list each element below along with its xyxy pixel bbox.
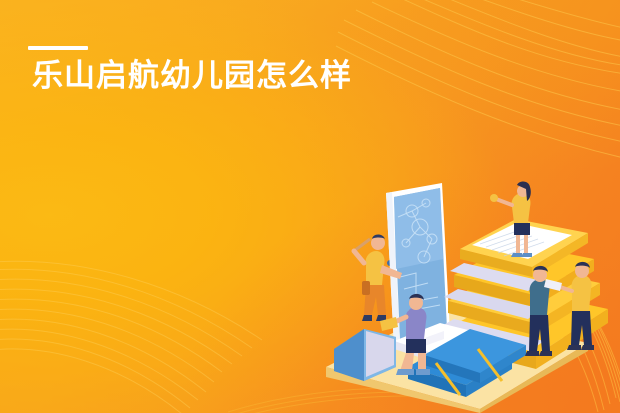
title-rule bbox=[28, 46, 88, 50]
banner-root: 乐山启航幼儿园怎么样 bbox=[0, 0, 620, 413]
page-title: 乐山启航幼儿园怎么样 bbox=[32, 58, 352, 95]
illustration-education-scene bbox=[320, 181, 620, 413]
heading-block bbox=[28, 46, 548, 50]
